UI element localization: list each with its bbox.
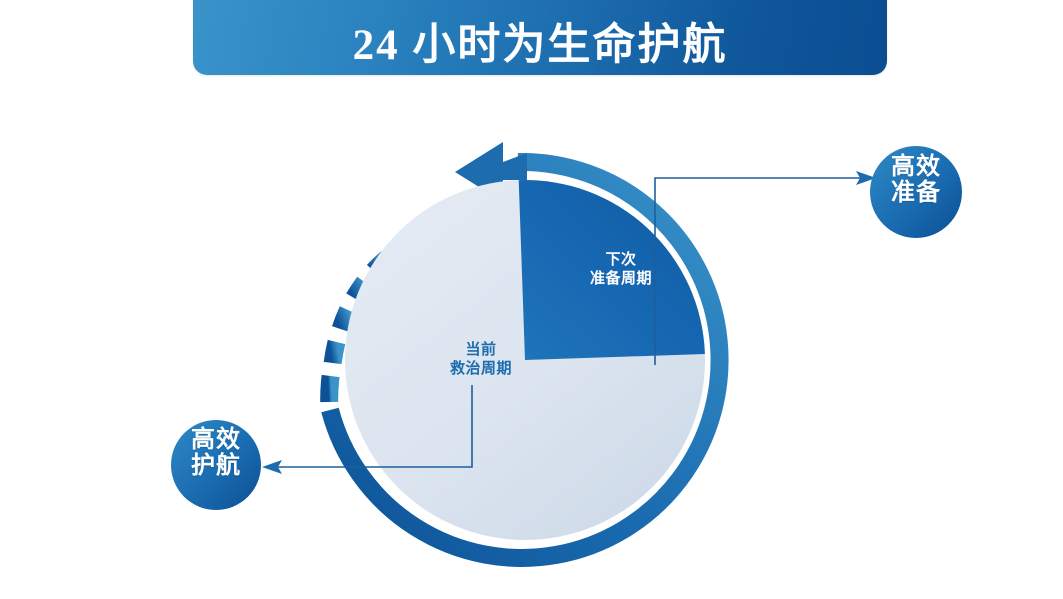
diagram-area: 下次 准备周期 当前 救治周期 高效 准备 高效 护航 [0,80,1063,599]
page-title: 24 小时为生命护航 [353,24,728,67]
badge-left-circle[interactable] [171,420,261,510]
wedge-next-prep-cycle [519,180,705,360]
cycle-diagram-svg [0,80,1063,599]
title-banner: 24 小时为生命护航 [193,0,887,75]
badge-right-circle[interactable] [870,146,962,238]
